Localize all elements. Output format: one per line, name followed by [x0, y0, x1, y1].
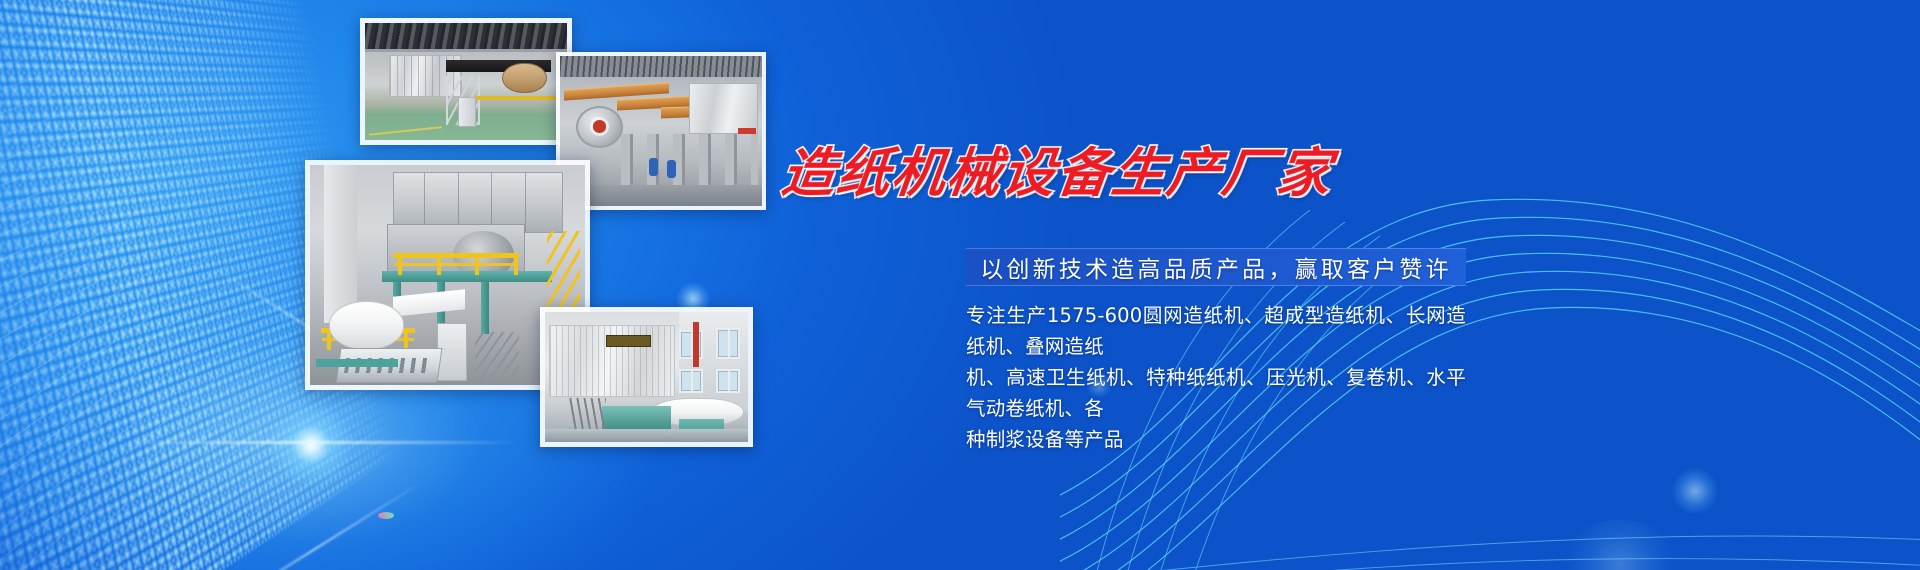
description-line: 种制浆设备等产品	[966, 424, 1466, 455]
promo-banner: 造纸机械设备生产厂家 以创新技术造高品质产品，赢取客户赞许 专注生产1575-6…	[0, 0, 1920, 570]
machine-nameplate	[606, 335, 651, 347]
window	[716, 328, 740, 359]
banner-subtitle-text: 以创新技术造高品质产品，赢取客户赞许	[980, 250, 1452, 284]
teal-base-beam	[316, 359, 399, 368]
red-wall-panel	[738, 128, 756, 134]
handrail-post	[437, 253, 441, 275]
bokeh-orb-2	[1672, 468, 1718, 514]
photo-yankee-hood	[540, 307, 753, 447]
banner-subtitle-bar: 以创新技术造高品质产品，赢取客户赞许	[966, 248, 1466, 286]
yellow-handrail-upper	[393, 253, 520, 258]
finished-paper-roll	[329, 301, 403, 349]
banner-description: 专注生产1575-600圆网造纸机、超成型造纸机、长网造纸机、叠网造纸 机、高速…	[966, 300, 1466, 455]
floor-marking-line	[369, 126, 442, 136]
control-cabinet	[458, 97, 476, 127]
worker-figure	[667, 160, 676, 178]
yankee-dryer-drum	[576, 106, 622, 148]
paper-sheet-run	[393, 289, 465, 316]
star-flare-horizontal-ray	[120, 441, 520, 444]
handrail-post	[404, 328, 408, 350]
window	[679, 330, 703, 359]
handrail-post	[514, 253, 518, 275]
bokeh-orb-5	[1560, 520, 1680, 570]
description-line: 机、高速卫生纸机、特种纸纸机、压光机、复卷机、水平气动卷纸机、各	[966, 362, 1466, 424]
dryer-hood	[689, 83, 758, 134]
workshop-floor	[545, 429, 748, 442]
yellow-guardrail	[476, 96, 561, 101]
window	[716, 369, 740, 392]
teal-platform-deck	[382, 271, 553, 282]
description-line: 专注生产1575-600圆网造纸机、超成型造纸机、长网造纸机、叠网造纸	[966, 300, 1466, 362]
kraft-paper-reel	[502, 63, 546, 93]
factory-roof-truss	[365, 23, 567, 51]
photo-dryer-section	[360, 18, 572, 145]
handrail-post	[475, 253, 479, 275]
worker-figure	[649, 158, 658, 176]
red-pipe	[693, 322, 699, 366]
roof-beam	[365, 49, 567, 52]
star-flare-diagonal-ray-down	[204, 479, 426, 570]
window	[679, 369, 703, 392]
teal-support-post	[481, 282, 489, 335]
workshop-ceiling	[560, 56, 762, 77]
star-flare-core-icon	[268, 402, 354, 488]
banner-headline: 造纸机械设备生产厂家	[778, 143, 1306, 205]
machine-stairs	[475, 332, 519, 380]
color-glint-right	[378, 512, 394, 519]
workshop-floor	[560, 185, 762, 206]
handrail-post	[398, 253, 402, 275]
building-column	[324, 165, 357, 323]
